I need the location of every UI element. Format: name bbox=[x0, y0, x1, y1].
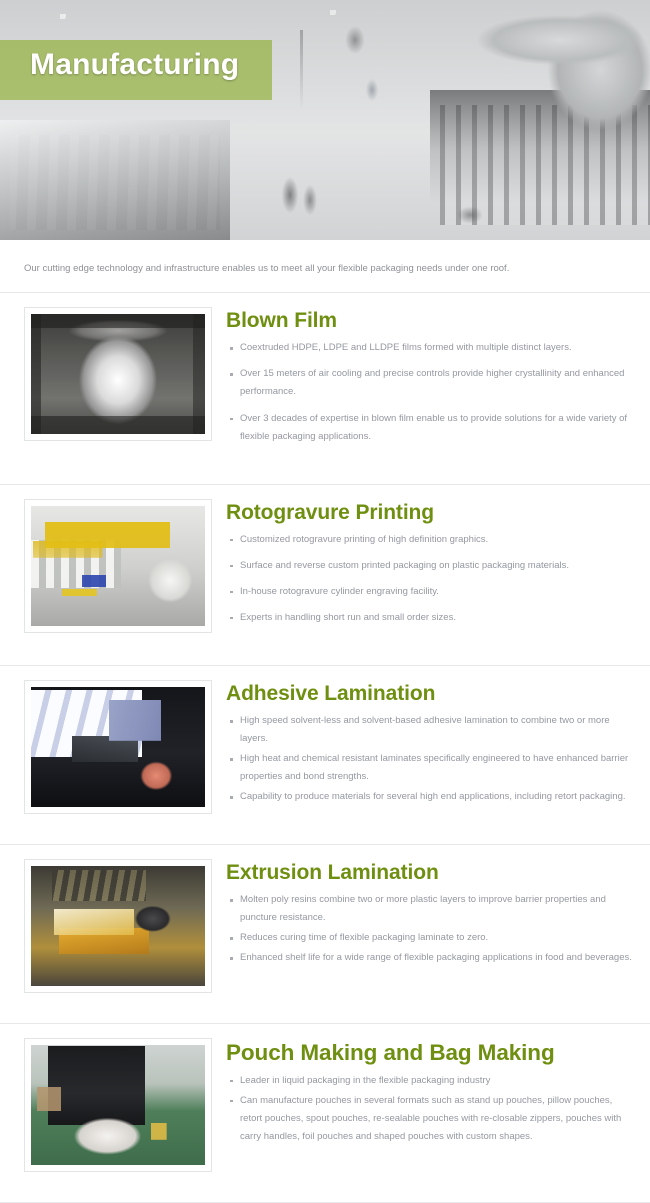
section-content: Extrusion Lamination Molten poly resins … bbox=[226, 859, 636, 969]
section-content: Pouch Making and Bag Making Leader in li… bbox=[226, 1038, 636, 1148]
list-item: High heat and chemical resistant laminat… bbox=[226, 750, 636, 786]
list-item: Over 15 meters of air cooling and precis… bbox=[226, 365, 636, 401]
list-item: In-house rotogravure cylinder engraving … bbox=[226, 583, 636, 601]
page-title: Manufacturing bbox=[30, 48, 239, 82]
thumbnail-frame[interactable] bbox=[24, 680, 212, 814]
list-item: Customized rotogravure printing of high … bbox=[226, 531, 636, 549]
list-item: Capability to produce materials for seve… bbox=[226, 788, 636, 806]
section-content: Adhesive Lamination High speed solvent-l… bbox=[226, 680, 636, 808]
list-item: Enhanced shelf life for a wide range of … bbox=[226, 949, 636, 967]
feature-list: High speed solvent-less and solvent-base… bbox=[226, 712, 636, 806]
list-item: Coextruded HDPE, LDPE and LLDPE films fo… bbox=[226, 339, 636, 357]
section-blown-film: Blown Film Coextruded HDPE, LDPE and LLD… bbox=[0, 293, 650, 467]
section-heading: Adhesive Lamination bbox=[226, 682, 636, 706]
feature-list: Customized rotogravure printing of high … bbox=[226, 531, 636, 627]
feature-list: Coextruded HDPE, LDPE and LLDPE films fo… bbox=[226, 339, 636, 445]
adhesive-lamination-photo bbox=[31, 687, 205, 807]
list-item: Reduces curing time of flexible packagin… bbox=[226, 929, 636, 947]
intro-paragraph: Our cutting edge technology and infrastr… bbox=[0, 240, 650, 276]
section-heading: Rotogravure Printing bbox=[226, 501, 636, 525]
thumbnail-frame[interactable] bbox=[24, 1038, 212, 1172]
section-heading: Extrusion Lamination bbox=[226, 861, 636, 885]
section-heading: Blown Film bbox=[226, 309, 636, 333]
thumbnail-frame[interactable] bbox=[24, 307, 212, 441]
feature-list: Leader in liquid packaging in the flexib… bbox=[226, 1072, 636, 1146]
list-item: Leader in liquid packaging in the flexib… bbox=[226, 1072, 636, 1090]
factory-hall-photo bbox=[0, 0, 650, 240]
list-item: Can manufacture pouches in several forma… bbox=[226, 1092, 636, 1146]
list-item: Experts in handling short run and small … bbox=[226, 609, 636, 627]
pouch-making-photo bbox=[31, 1045, 205, 1165]
rotogravure-press-photo bbox=[31, 506, 205, 626]
section-heading: Pouch Making and Bag Making bbox=[226, 1040, 636, 1066]
list-item: Molten poly resins combine two or more p… bbox=[226, 891, 636, 927]
list-item: High speed solvent-less and solvent-base… bbox=[226, 712, 636, 748]
section-extrusion-lamination: Extrusion Lamination Molten poly resins … bbox=[0, 845, 650, 1007]
thumbnail-frame[interactable] bbox=[24, 859, 212, 993]
list-item: Surface and reverse custom printed packa… bbox=[226, 557, 636, 575]
list-item: Over 3 decades of expertise in blown fil… bbox=[226, 410, 636, 446]
section-content: Rotogravure Printing Customized rotograv… bbox=[226, 499, 636, 635]
extrusion-lamination-photo bbox=[31, 866, 205, 986]
feature-list: Molten poly resins combine two or more p… bbox=[226, 891, 636, 967]
thumbnail-frame[interactable] bbox=[24, 499, 212, 633]
section-rotogravure-printing: Rotogravure Printing Customized rotograv… bbox=[0, 485, 650, 649]
section-content: Blown Film Coextruded HDPE, LDPE and LLD… bbox=[226, 307, 636, 453]
page-banner: Manufacturing bbox=[0, 0, 650, 240]
section-pouch-making: Pouch Making and Bag Making Leader in li… bbox=[0, 1024, 650, 1186]
blown-film-photo bbox=[31, 314, 205, 434]
section-adhesive-lamination: Adhesive Lamination High speed solvent-l… bbox=[0, 666, 650, 828]
